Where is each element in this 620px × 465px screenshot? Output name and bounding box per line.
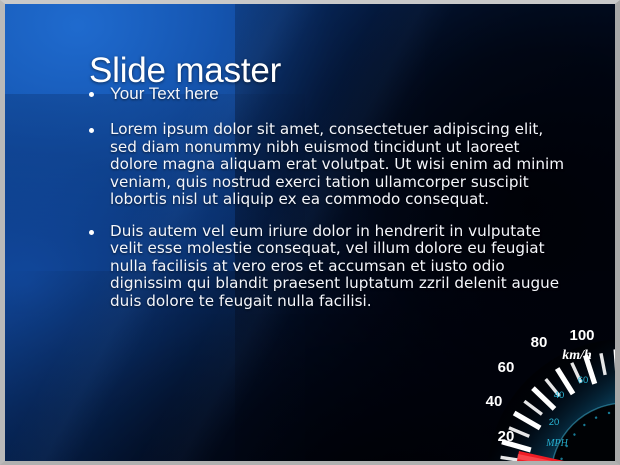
slide-frame: 20 40 60 80 100 km/h 20 40 60 MPH: [0, 0, 620, 465]
bullet-item-paragraph-2[interactable]: Duis autem vel eum iriure dolor in hendr…: [77, 223, 569, 311]
slide-canvas: 20 40 60 80 100 km/h 20 40 60 MPH: [5, 4, 615, 461]
bullet-item-paragraph-1[interactable]: Lorem ipsum dolor sit amet, consectetuer…: [77, 121, 569, 209]
bullet-item-placeholder[interactable]: Your Text here: [77, 84, 569, 104]
slide-content: Slide master Your Text here Lorem ipsum …: [5, 4, 615, 461]
bullet-list: Your Text here Lorem ipsum dolor sit ame…: [77, 84, 569, 324]
